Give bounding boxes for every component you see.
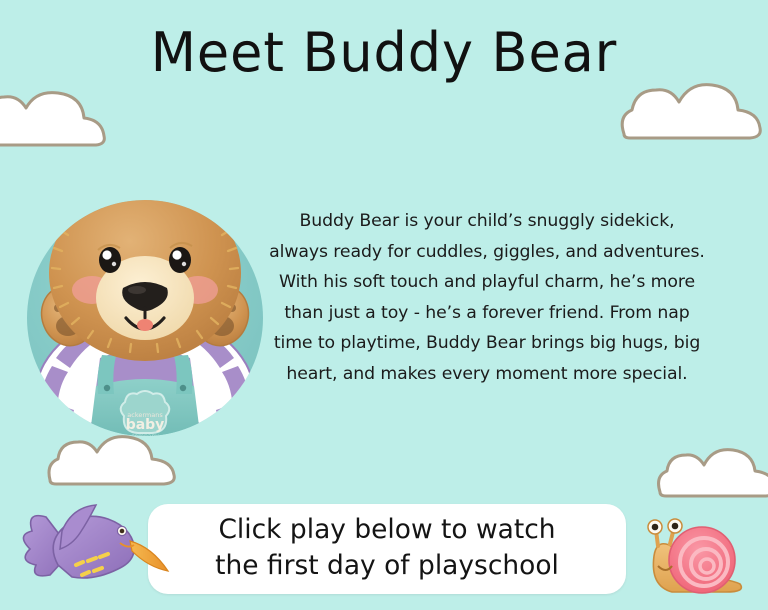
badge-line-2: baby — [126, 417, 165, 433]
cta-banner-text: Click play below to watch the first day … — [153, 512, 621, 584]
cloud-mid-right-icon — [654, 444, 768, 504]
cloud-top-left-icon — [0, 84, 118, 148]
hummingbird-illustration — [2, 487, 172, 597]
dungaree-badge: ackermans baby company — [121, 391, 170, 440]
promo-card: Meet Buddy Bear — [0, 0, 768, 610]
buddy-bear-illustration: ackermans baby company — [18, 150, 272, 450]
cta-line-2: the first day of playschool — [153, 548, 621, 584]
snail-shell — [669, 527, 735, 593]
page-title: Meet Buddy Bear — [12, 22, 757, 84]
bird-beak — [130, 541, 168, 571]
cta-banner[interactable]: Click play below to watch the first day … — [148, 504, 626, 594]
badge-line-3: company — [131, 433, 159, 440]
bear-head — [49, 185, 241, 361]
bear-dungarees: ackermans baby company — [88, 349, 202, 450]
body-paragraph: Buddy Bear is your child’s snuggly sidek… — [268, 206, 706, 389]
snail-illustration — [628, 516, 760, 602]
cloud-top-right-icon — [616, 76, 768, 142]
bear-tongue — [137, 319, 153, 331]
cta-line-1: Click play below to watch — [153, 512, 621, 548]
